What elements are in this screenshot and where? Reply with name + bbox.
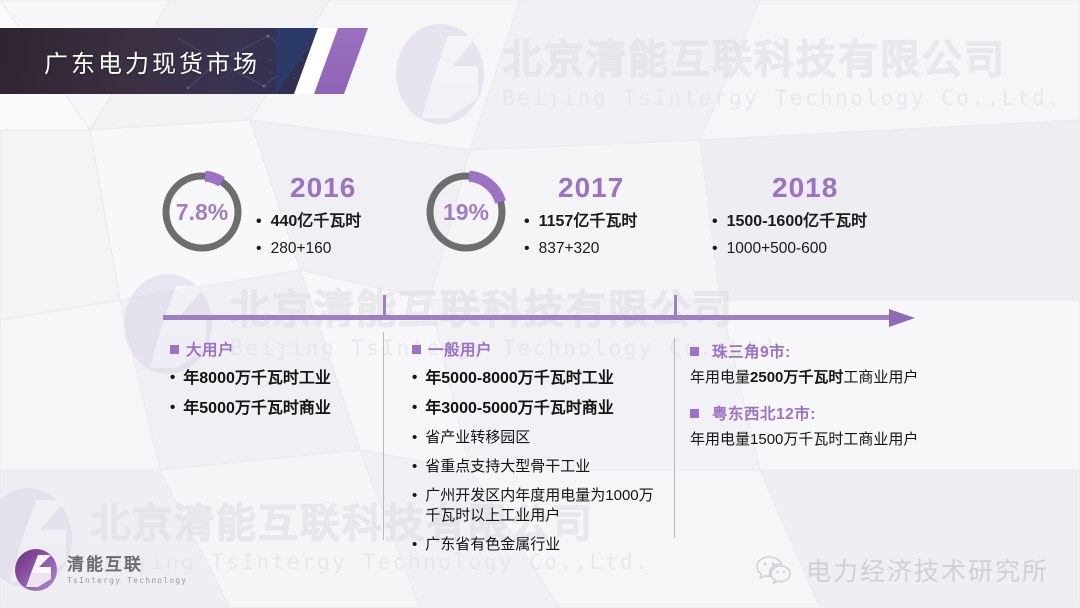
- square-bullet-icon: [690, 409, 699, 418]
- bullet-dot-icon: •: [412, 398, 417, 418]
- footer-logo-en: TsIntergy Technology: [67, 577, 187, 585]
- list-item-text: 广州开发区内年度用电量为1000万千瓦时以上工业用户: [425, 486, 664, 527]
- list-item-text: 837+320: [539, 238, 600, 260]
- region-body-post: 工商业用户: [843, 431, 918, 448]
- list-item: • 1500-1600亿千瓦时: [712, 210, 942, 233]
- timeline-tick-1: [383, 295, 386, 315]
- list-item-text: 年5000万千瓦时商业: [183, 398, 331, 420]
- square-bullet-icon: [690, 347, 699, 356]
- list-item-text: 年8000万千瓦时工业: [183, 368, 331, 390]
- list-item: • 1157亿千瓦时: [524, 210, 694, 233]
- region-body-strong: 1500万千瓦时: [750, 431, 843, 448]
- column-heading-text: 粤东西北12市:: [712, 402, 816, 424]
- bullet-dot-icon: •: [412, 368, 417, 388]
- region-body-pre: 年用电量: [690, 431, 750, 448]
- bullet-dot-icon: •: [524, 241, 530, 257]
- list-item: • 省重点支持大型骨干工业: [412, 457, 664, 478]
- year-group-2016: 2016 • 440亿千瓦时 • 280+160: [256, 172, 416, 266]
- bullet-dot-icon: •: [412, 486, 417, 506]
- year-label-2018: 2018: [712, 172, 942, 204]
- list-item-text: 280+160: [271, 238, 332, 260]
- list-item-text: 1000+500-600: [727, 238, 827, 260]
- column-heading: 粤东西北12市:: [690, 402, 990, 424]
- list-item: • 省产业转移园区: [412, 428, 664, 449]
- square-bullet-icon: [170, 345, 179, 354]
- list-item: • 440亿千瓦时: [256, 210, 416, 233]
- list-item-text: 年3000-5000万千瓦时商业: [425, 398, 614, 420]
- column-heading-text: 珠三角9市:: [712, 340, 791, 362]
- list-item-text: 省产业转移园区: [425, 428, 530, 449]
- column-heading: 大用户: [170, 338, 370, 360]
- year-items-2017: • 1157亿千瓦时 • 837+320: [524, 210, 694, 261]
- list-item-text: 广东省有色金属行业: [425, 535, 560, 556]
- year-items-2018: • 1500-1600亿千瓦时 • 1000+500-600: [712, 210, 942, 261]
- year-label-2017: 2017: [524, 172, 694, 204]
- column-heading: 珠三角9市:: [690, 340, 990, 362]
- bullet-dot-icon: •: [524, 214, 530, 230]
- region-block-2: 粤东西北12市: 年用电量1500万千瓦时工商业用户: [690, 402, 990, 450]
- timeline-bar: [163, 315, 893, 320]
- region-block-1: 珠三角9市: 年用电量2500万千瓦时工商业用户: [690, 340, 990, 388]
- region-body-pre: 年用电量: [690, 369, 750, 386]
- list-item: • 1000+500-600: [712, 238, 942, 260]
- bullet-dot-icon: •: [256, 214, 262, 230]
- column-heading-text: 一般用户: [428, 338, 492, 360]
- column-heading-text: 大用户: [186, 338, 234, 360]
- timeline-axis: [163, 307, 925, 329]
- timeline-tick-2: [674, 295, 677, 315]
- square-bullet-icon: [412, 345, 421, 354]
- header-banner: 广东电力现货市场: [0, 28, 360, 94]
- column-divider-2: [674, 338, 675, 538]
- year-group-2018: 2018 • 1500-1600亿千瓦时 • 1000+500-600: [712, 172, 942, 266]
- tsintergy-logo-icon: [14, 548, 58, 592]
- donut-chart-2017: 19%: [422, 168, 510, 256]
- list-item: • 年8000万千瓦时工业: [170, 368, 370, 390]
- page-title: 广东电力现货市场: [44, 28, 260, 94]
- region-body-1: 年用电量2500万千瓦时工商业用户: [690, 367, 990, 388]
- bullet-dot-icon: •: [256, 241, 262, 257]
- column-items: • 年8000万千瓦时工业 • 年5000万千瓦时商业: [170, 368, 370, 420]
- bullet-dot-icon: •: [412, 428, 417, 448]
- region-body-2: 年用电量1500万千瓦时工商业用户: [690, 429, 990, 450]
- region-body-strong: 2500万千瓦时: [750, 369, 843, 386]
- bullet-dot-icon: •: [412, 535, 417, 555]
- column-large-users: 大用户 • 年8000万千瓦时工业 • 年5000万千瓦时商业: [170, 338, 370, 428]
- wechat-account-name: 电力经济技术研究所: [806, 552, 1049, 588]
- list-item-text: 440亿千瓦时: [271, 210, 362, 233]
- wechat-icon: [756, 555, 794, 585]
- bullet-dot-icon: •: [712, 241, 718, 257]
- year-label-2016: 2016: [256, 172, 416, 204]
- year-group-2017: 2017 • 1157亿千瓦时 • 837+320: [524, 172, 694, 266]
- donut-value-2016: 7.8%: [158, 168, 246, 256]
- list-item: • 广东省有色金属行业: [412, 535, 664, 556]
- column-regions: 珠三角9市: 年用电量2500万千瓦时工商业用户 粤东西北12市: 年用电量15…: [690, 340, 990, 464]
- region-body-post: 工商业用户: [843, 369, 918, 386]
- wechat-footer: 电力经济技术研究所: [756, 552, 1049, 588]
- bullet-dot-icon: •: [170, 398, 175, 418]
- column-heading: 一般用户: [412, 338, 664, 360]
- list-item: • 年5000-8000万千瓦时工业: [412, 368, 664, 390]
- donut-chart-2016: 7.8%: [158, 168, 246, 256]
- footer-logo: 清能互联 TsIntergy Technology: [14, 548, 187, 592]
- list-item: • 广州开发区内年度用电量为1000万千瓦时以上工业用户: [412, 486, 664, 527]
- list-item: • 280+160: [256, 238, 416, 260]
- bullet-dot-icon: •: [712, 214, 718, 230]
- list-item: • 837+320: [524, 238, 694, 260]
- column-divider-1: [383, 332, 384, 540]
- footer-logo-cn: 清能互联: [67, 556, 187, 573]
- slide-root: 北京清能互联科技有限公司 Beijing TsIntergy Technolog…: [0, 0, 1080, 608]
- column-general-users: 一般用户 • 年5000-8000万千瓦时工业 • 年3000-5000万千瓦时…: [412, 338, 664, 564]
- list-item-text: 1157亿千瓦时: [539, 210, 638, 233]
- bullet-dot-icon: •: [412, 457, 417, 477]
- list-item-text: 省重点支持大型骨干工业: [425, 457, 590, 478]
- list-item-text: 1500-1600亿千瓦时: [727, 210, 868, 233]
- list-item: • 年3000-5000万千瓦时商业: [412, 398, 664, 420]
- bullet-dot-icon: •: [170, 368, 175, 388]
- list-item-text: 年5000-8000万千瓦时工业: [425, 368, 614, 390]
- year-items-2016: • 440亿千瓦时 • 280+160: [256, 210, 416, 261]
- banner-slab: 广东电力现货市场: [0, 28, 318, 94]
- timeline-arrow-icon: [889, 309, 915, 327]
- list-item: • 年5000万千瓦时商业: [170, 398, 370, 420]
- donut-value-2017: 19%: [422, 168, 510, 256]
- column-items: • 年5000-8000万千瓦时工业 • 年3000-5000万千瓦时商业 • …: [412, 368, 664, 556]
